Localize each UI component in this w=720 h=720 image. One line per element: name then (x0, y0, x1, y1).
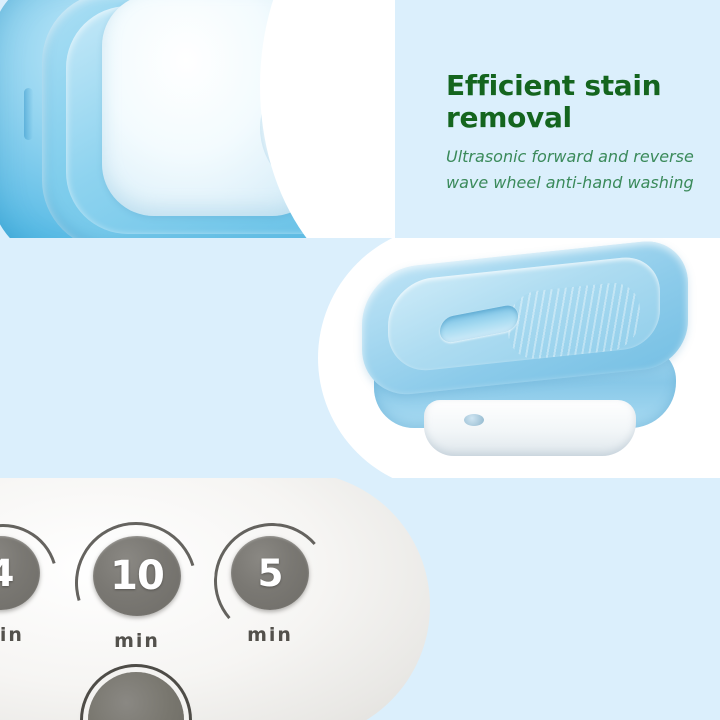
section-timing: 4 min 10 min 5 min (0, 478, 720, 720)
timer-button-row: 4 min 10 min 5 min (0, 478, 360, 642)
timer-unit-label: min (93, 630, 181, 652)
folded-washing-machine (358, 250, 694, 458)
machine-lid-ridges (508, 280, 640, 362)
machine-lid-inner-panel (388, 254, 660, 375)
text-block-efficient-stain-removal: Efficient stain removal Ultrasonic forwa… (446, 70, 704, 196)
timer-value: 4 (0, 555, 13, 592)
section-foldable: Foldable Travel, easy to put into the su… (0, 238, 720, 478)
body-efficient-stain-removal: Ultrasonic forward and reverse wave whee… (446, 144, 704, 196)
timer-unit-label: min (0, 624, 40, 646)
heading-efficient-stain-removal: Efficient stain removal (446, 70, 704, 135)
power-button[interactable] (88, 672, 184, 720)
section-efficient-stain-removal: Efficient stain removal Ultrasonic forwa… (0, 0, 720, 238)
timer-value: 5 (258, 555, 283, 592)
timer-value: 10 (110, 556, 164, 596)
top-view-washing-tub-with-wave-wheel (0, 0, 420, 238)
machine-white-base (424, 400, 636, 456)
timer-unit-label: min (231, 624, 309, 646)
tub-hinge-left (24, 88, 33, 140)
control-panel-close-up: 4 min 10 min 5 min (0, 478, 430, 720)
body-line: Ultrasonic forward and reverse (446, 144, 704, 170)
product-infographic: Efficient stain removal Ultrasonic forwa… (0, 0, 720, 720)
timer-disc: 10 (93, 536, 181, 616)
body-line: wave wheel anti-hand washing (446, 170, 704, 196)
timer-disc: 5 (231, 536, 309, 610)
machine-base-knob (464, 414, 484, 426)
